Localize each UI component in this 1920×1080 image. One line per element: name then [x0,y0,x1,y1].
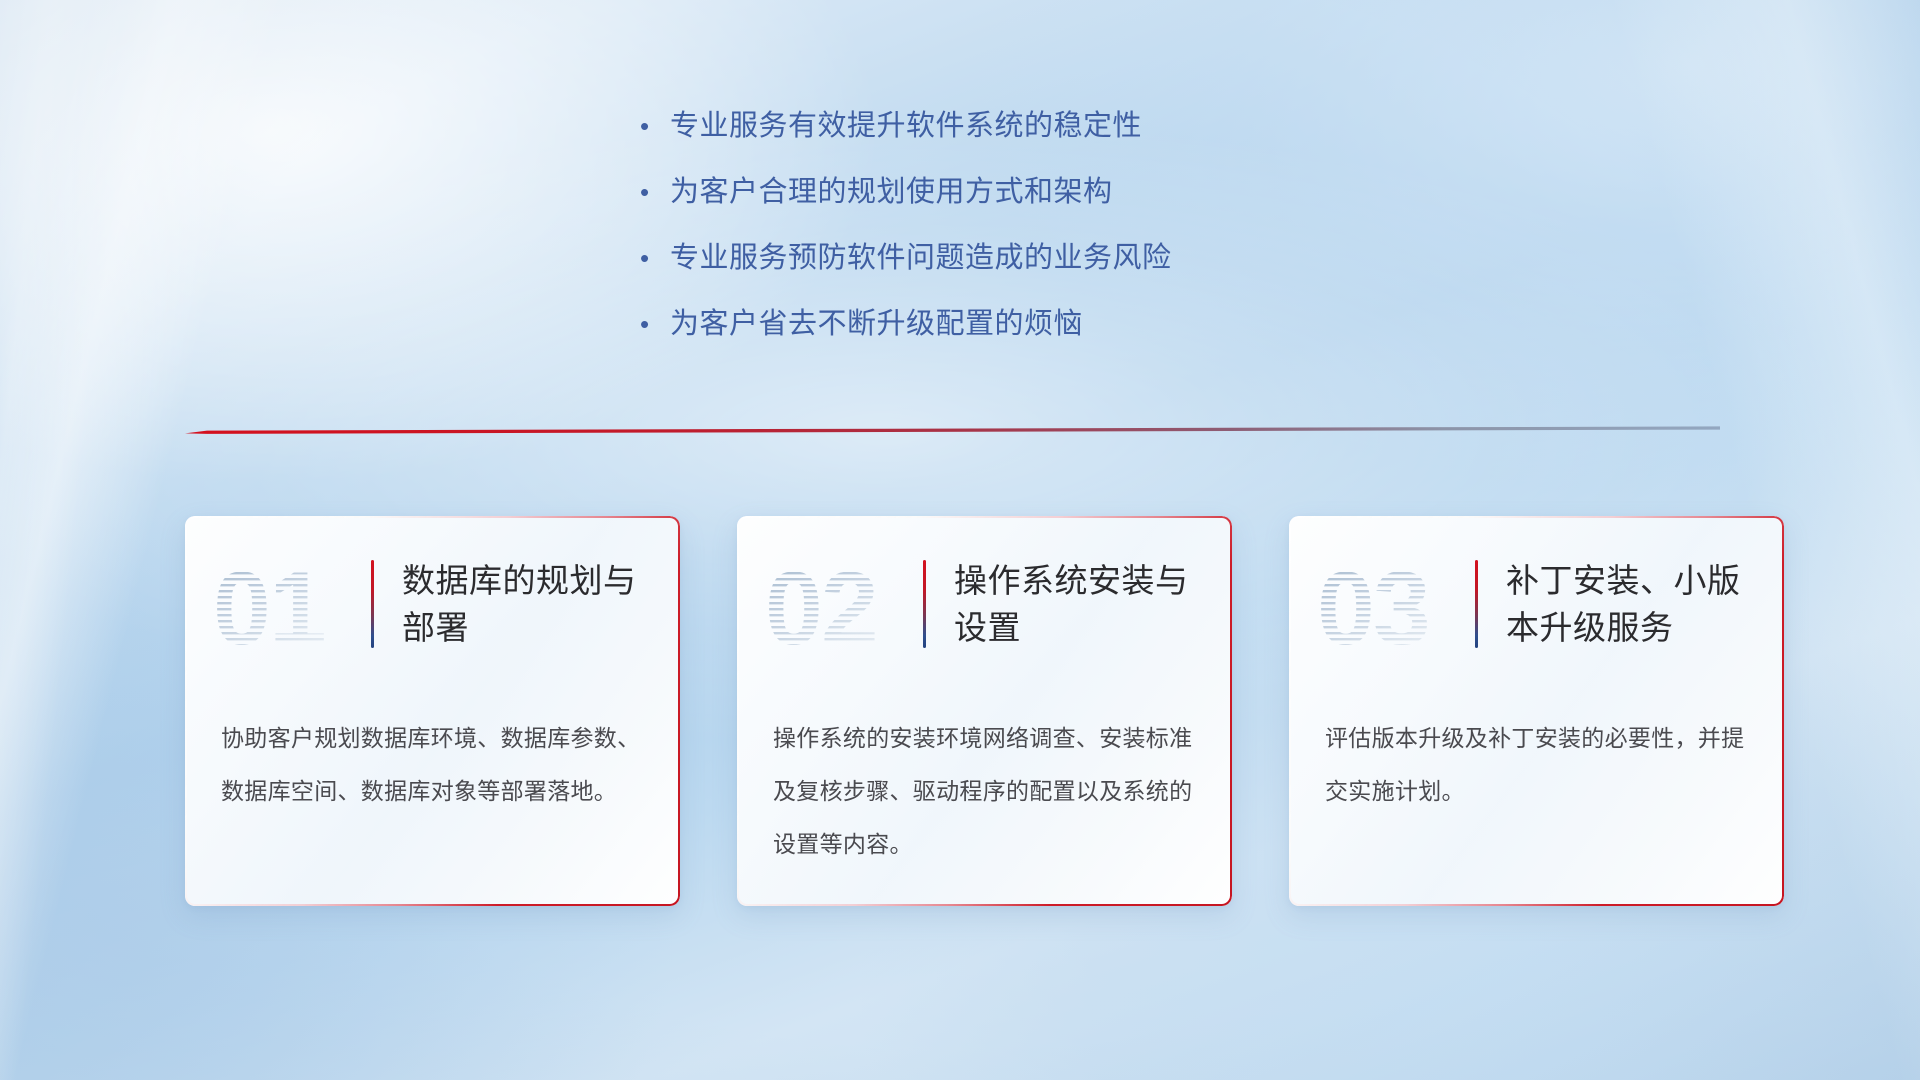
list-item: • 为客户合理的规划使用方式和架构 [640,172,1460,238]
card-surface: 03 补丁安装、小版本升级服务 评估版本升级及补丁安装的必要性，并提交实施计划。 [1289,516,1784,906]
bullet-dot-icon: • [640,304,670,344]
svg-text:02: 02 [765,551,877,660]
card-accent-rule [1475,560,1478,648]
bullet-text: 专业服务有效提升软件系统的稳定性 [670,106,1142,146]
divider-shape [185,424,1720,438]
card-title: 数据库的规划与部署 [402,557,664,651]
bullet-dot-icon: • [640,106,670,146]
card-number-01: 01 [211,548,361,660]
bullet-text: 为客户合理的规划使用方式和架构 [670,172,1113,212]
card-number-glyph: 01 [211,548,361,660]
card-description: 评估版本升级及补丁安装的必要性，并提交实施计划。 [1325,712,1757,818]
service-card-list: 01 数据库的规划与部署 协助客户规划数据库环境、数据库参数、数据库空间、数据库… [185,516,1785,906]
service-card-03[interactable]: 03 补丁安装、小版本升级服务 评估版本升级及补丁安装的必要性，并提交实施计划。 [1289,516,1784,906]
card-title: 补丁安装、小版本升级服务 [1506,557,1768,651]
card-accent-rule [371,560,374,648]
bullet-text: 专业服务预防软件问题造成的业务风险 [670,238,1172,278]
service-card-01[interactable]: 01 数据库的规划与部署 协助客户规划数据库环境、数据库参数、数据库空间、数据库… [185,516,680,906]
card-number-glyph: 03 [1315,548,1465,660]
card-header: 01 数据库的规划与部署 [185,538,680,670]
slide-canvas: • 专业服务有效提升软件系统的稳定性 • 为客户合理的规划使用方式和架构 • 专… [0,0,1920,1080]
svg-text:01: 01 [213,551,325,660]
card-number-03: 03 [1315,548,1465,660]
card-accent-rule [923,560,926,648]
list-item: • 专业服务预防软件问题造成的业务风险 [640,238,1460,304]
card-header: 02 操作系统安装与设置 [737,538,1232,670]
list-item: • 专业服务有效提升软件系统的稳定性 [640,106,1460,172]
bullet-text: 为客户省去不断升级配置的烦恼 [670,304,1083,344]
card-surface: 02 操作系统安装与设置 操作系统的安装环境网络调查、安装标准及复核步骤、驱动程… [737,516,1232,906]
section-divider [185,424,1720,438]
card-number-glyph: 02 [763,548,913,660]
bullet-dot-icon: • [640,172,670,212]
card-number-02: 02 [763,548,913,660]
benefits-bullet-list: • 专业服务有效提升软件系统的稳定性 • 为客户合理的规划使用方式和架构 • 专… [640,106,1460,370]
bullet-dot-icon: • [640,238,670,278]
service-card-02[interactable]: 02 操作系统安装与设置 操作系统的安装环境网络调查、安装标准及复核步骤、驱动程… [737,516,1232,906]
card-surface: 01 数据库的规划与部署 协助客户规划数据库环境、数据库参数、数据库空间、数据库… [185,516,680,906]
card-description: 操作系统的安装环境网络调查、安装标准及复核步骤、驱动程序的配置以及系统的设置等内… [773,712,1205,871]
svg-text:03: 03 [1317,551,1429,660]
card-header: 03 补丁安装、小版本升级服务 [1289,538,1784,670]
list-item: • 为客户省去不断升级配置的烦恼 [640,304,1460,370]
card-title: 操作系统安装与设置 [954,557,1216,651]
card-description: 协助客户规划数据库环境、数据库参数、数据库空间、数据库对象等部署落地。 [221,712,653,818]
